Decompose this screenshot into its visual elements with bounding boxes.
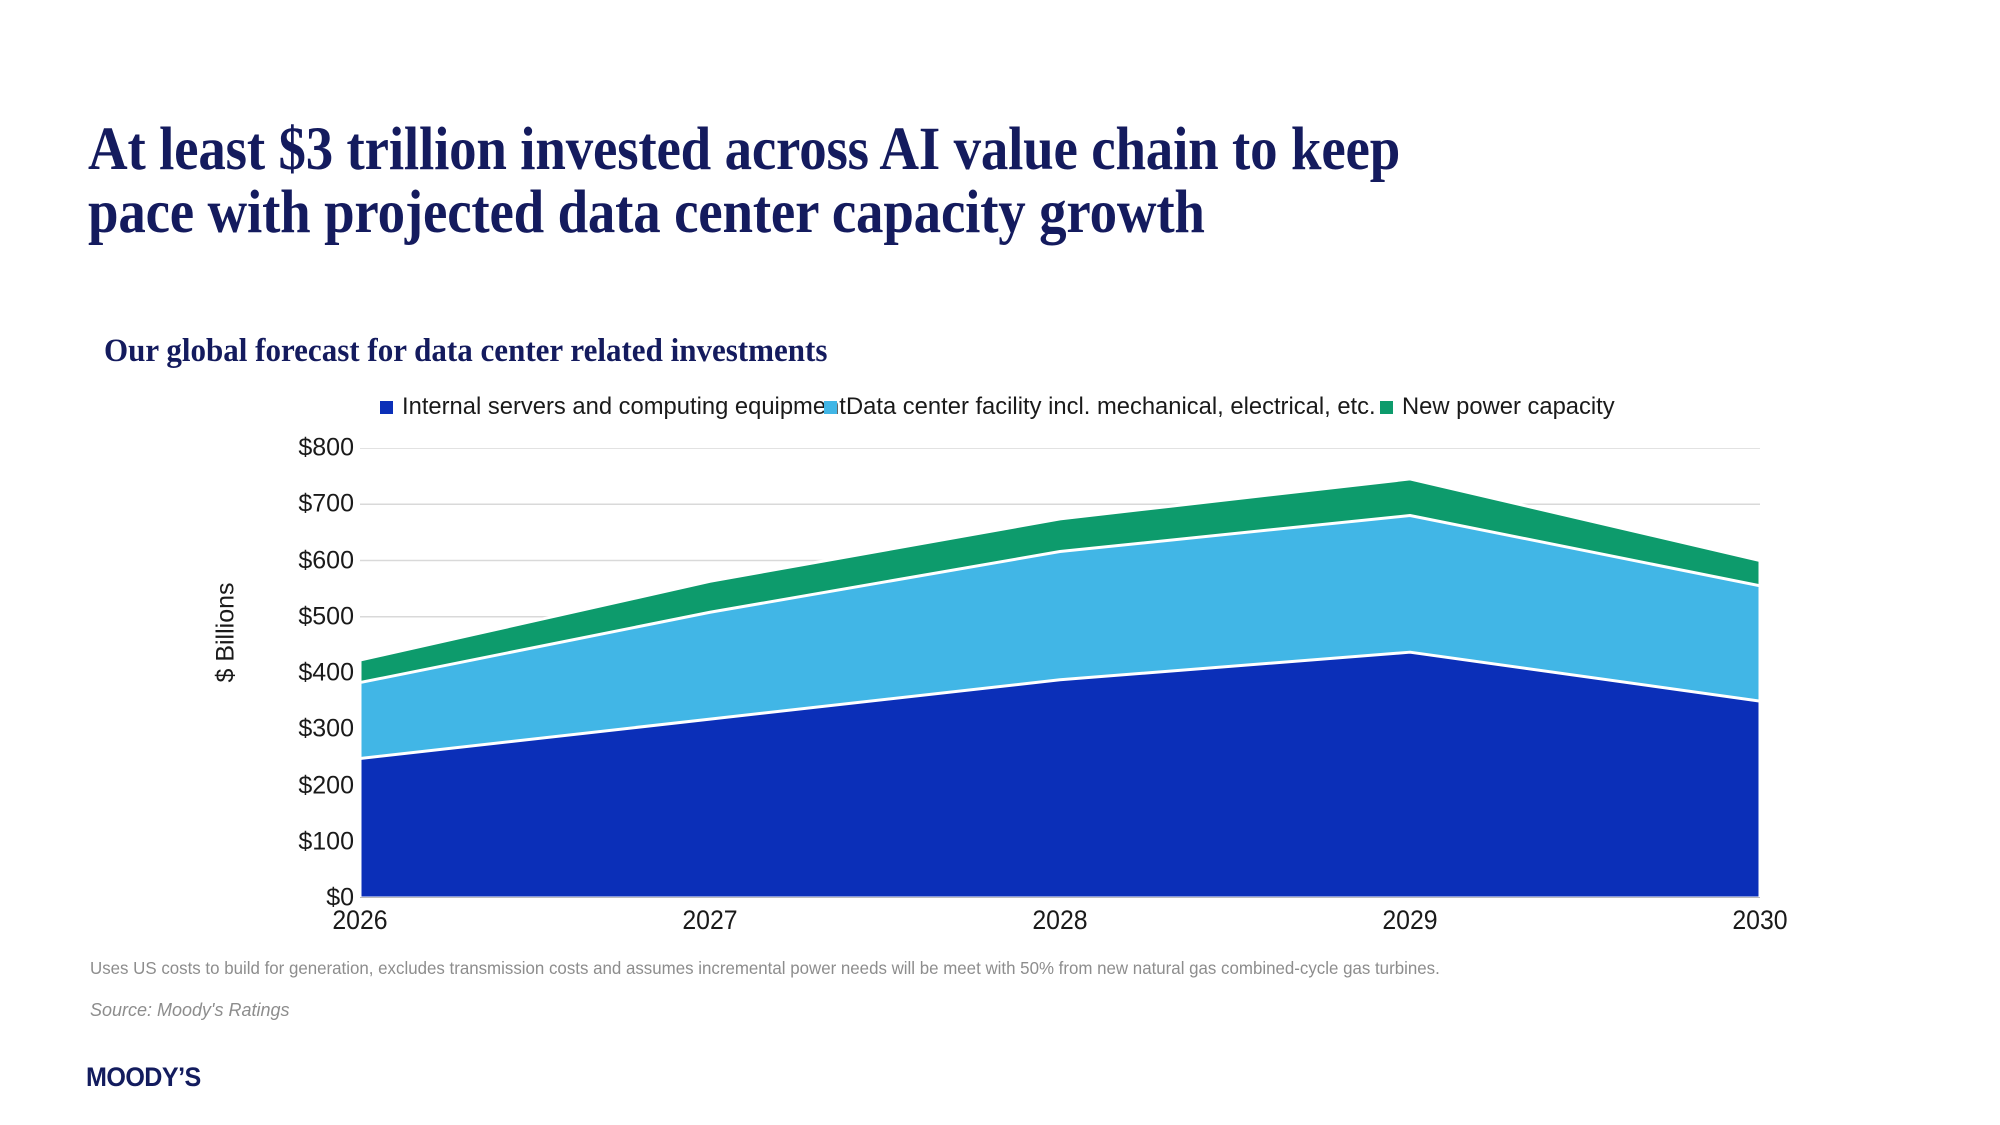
y-axis-tick-600: $600 bbox=[244, 548, 354, 573]
moodys-logo: MOODY’S bbox=[86, 1062, 201, 1093]
y-axis-tick-300: $300 bbox=[244, 717, 354, 742]
legend-swatch-cyan bbox=[824, 401, 837, 414]
legend-label-internal-servers: Internal servers and computing equipment bbox=[402, 395, 846, 420]
x-axis-tick-2029: 2029 bbox=[1382, 907, 1437, 934]
y-axis-tick-100: $100 bbox=[244, 829, 354, 854]
y-axis-tick-700: $700 bbox=[244, 492, 354, 517]
legend-swatch-navy bbox=[380, 401, 393, 414]
footnote: Uses US costs to build for generation, e… bbox=[90, 958, 1827, 979]
source-note: Source: Moody's Ratings bbox=[90, 1000, 290, 1021]
stacked-area-chart: Internal servers and computing equipment… bbox=[200, 395, 1840, 940]
y-axis-tick-labels: $0$100$200$300$400$500$600$700$800 bbox=[232, 448, 354, 898]
legend-label-data-center-facility: Data center facility incl. mechanical, e… bbox=[846, 395, 1376, 420]
x-axis-tick-2026: 2026 bbox=[332, 907, 387, 934]
chart-svg bbox=[360, 448, 1760, 898]
y-axis-tick-400: $400 bbox=[244, 661, 354, 686]
page-title: At least $3 trillion invested across AI … bbox=[88, 119, 1735, 245]
slide: At least $3 trillion invested across AI … bbox=[0, 0, 2000, 1125]
x-axis-tick-2028: 2028 bbox=[1032, 907, 1087, 934]
legend-item-data-center-facility[interactable]: Data center facility incl. mechanical, e… bbox=[824, 395, 1392, 420]
y-axis-tick-200: $200 bbox=[244, 773, 354, 798]
legend-swatch-green bbox=[1380, 401, 1393, 414]
y-axis-tick-500: $500 bbox=[244, 604, 354, 629]
chart-legend: Internal servers and computing equipment… bbox=[320, 395, 1840, 429]
legend-item-new-power-capacity[interactable]: New power capacity bbox=[1380, 395, 1621, 420]
legend-label-new-power-capacity: New power capacity bbox=[1402, 395, 1615, 420]
legend-item-internal-servers[interactable]: Internal servers and computing equipment bbox=[380, 395, 860, 420]
x-axis-tick-labels: 20262027202820292030 bbox=[360, 907, 1760, 943]
area-series-group bbox=[360, 479, 1760, 898]
chart-subtitle: Our global forecast for data center rela… bbox=[104, 333, 827, 370]
plot-area bbox=[360, 448, 1760, 898]
y-axis-tick-800: $800 bbox=[244, 436, 354, 461]
x-axis-tick-2030: 2030 bbox=[1732, 907, 1787, 934]
x-axis-tick-2027: 2027 bbox=[682, 907, 737, 934]
